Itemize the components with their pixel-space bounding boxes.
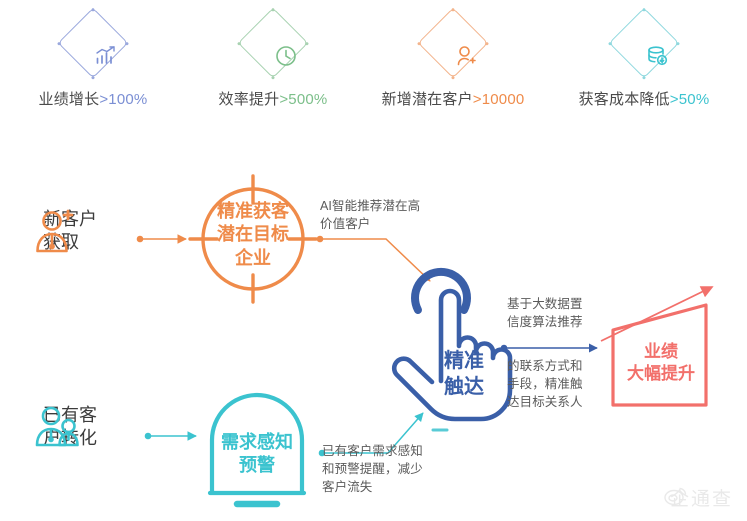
- alert-bell-shape: [210, 395, 304, 504]
- target-note: AI智能推荐潜在高 价值客户: [320, 197, 438, 233]
- stat-value: >100%: [99, 91, 147, 108]
- stat-item-acquisition-cost: 获客成本降低>50%: [551, 14, 737, 109]
- target-node-label: 精准获客 潜在目标 企业: [193, 200, 313, 270]
- stat-item-new-leads: 新增潜在客户>10000: [360, 14, 546, 109]
- bar-chart-growth-icon: [58, 8, 129, 79]
- crosshair-target-shape: [190, 176, 316, 302]
- hand-note-bottom: 的联系方式和 手段，精准触 达目标关系人: [507, 357, 607, 411]
- stat-label: 效率提升>500%: [180, 88, 366, 109]
- rising-trapezoid-shape: [601, 287, 712, 405]
- user-plus-icon: [418, 8, 489, 79]
- entity-new-customer: 新客户 获取: [34, 208, 97, 253]
- stat-label: 获客成本降低>50%: [551, 88, 737, 109]
- bell-node-label: 需求感知 预警: [197, 431, 317, 478]
- stat-item-efficiency: 效率提升>500%: [180, 14, 366, 109]
- stat-label-text: 业绩增长: [39, 91, 100, 108]
- hand-node-label: 精准 触达: [424, 348, 504, 400]
- stat-label: 新增潜在客户>10000: [360, 88, 546, 109]
- stat-label: 业绩增长>100%: [0, 88, 186, 109]
- infographic-canvas: 业绩增长>100% 效率提升>500%: [0, 0, 747, 521]
- entity-label: 已有客 户转化: [43, 404, 97, 449]
- result-node-label: 业绩 大幅提升: [614, 341, 708, 385]
- stat-item-performance-growth: 业绩增长>100%: [0, 14, 186, 109]
- entity-label: 新客户 获取: [43, 208, 97, 253]
- stat-label-text: 获客成本降低: [579, 91, 670, 108]
- watermark: 企通查: [664, 484, 733, 511]
- tap-hand-shape: [394, 272, 510, 430]
- stat-value: >50%: [670, 91, 710, 108]
- database-down-icon: [609, 8, 680, 79]
- stat-label-text: 效率提升: [219, 91, 280, 108]
- stat-value: >500%: [279, 91, 327, 108]
- entity-existing-customer: 已有客 户转化: [34, 404, 97, 449]
- stats-row: 业绩增长>100% 效率提升>500%: [0, 14, 747, 114]
- clock-icon: [238, 8, 309, 79]
- stat-value: >10000: [473, 91, 525, 108]
- hand-note-top: 基于大数据置 信度算法推荐: [507, 295, 607, 331]
- stat-label-text: 新增潜在客户: [382, 91, 473, 108]
- watermark-text: 企通查: [670, 484, 733, 511]
- bell-note: 已有客户需求感知 和预警提醒，减少 客户流失: [322, 442, 442, 496]
